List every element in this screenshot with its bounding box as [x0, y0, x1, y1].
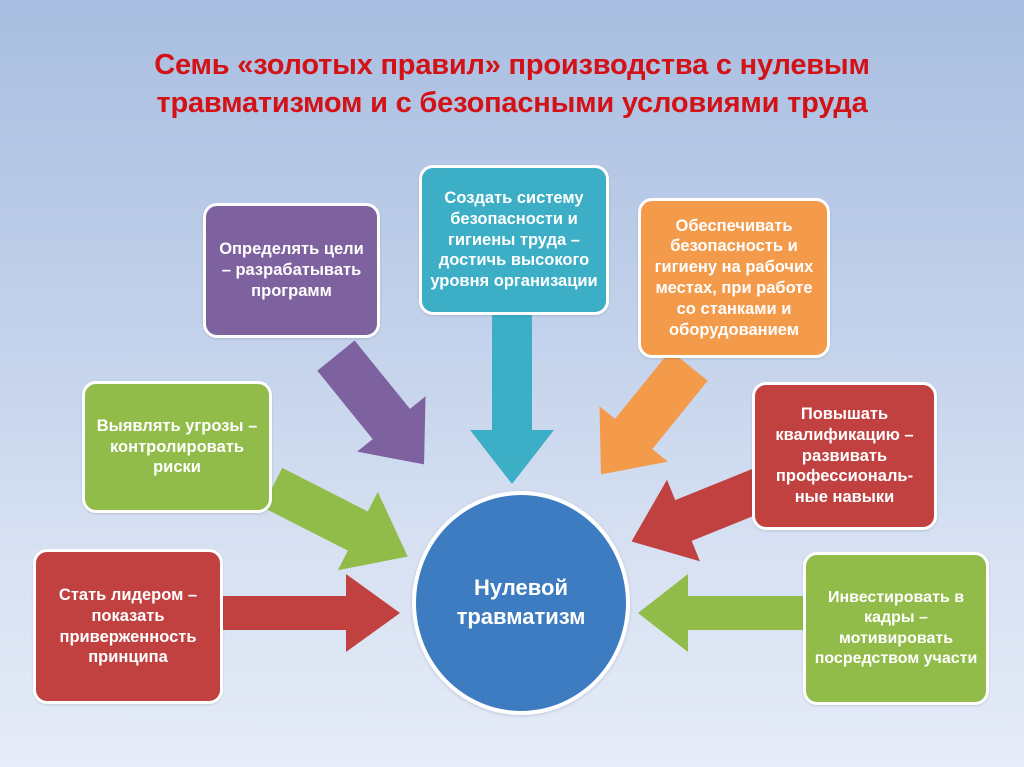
arrow-invest-to-center — [636, 570, 816, 656]
rule-box-invest[interactable]: Инвестировать в кадры – мотивировать пос… — [803, 552, 989, 705]
rule-box-invest-label: Инвестировать в кадры – мотивировать пос… — [814, 588, 978, 669]
center-node-zero-injury[interactable]: Нулевой травматизм — [412, 491, 630, 715]
rule-box-skills[interactable]: Повышать квалификацию – развивать профес… — [752, 382, 937, 530]
center-node-label-line-2: травматизм — [457, 603, 586, 632]
center-node-label-line-1: Нулевой — [457, 574, 586, 603]
rule-box-leader-label: Стать лидером – показать приверженность … — [44, 585, 212, 668]
rule-box-leader[interactable]: Стать лидером – показать приверженность … — [33, 549, 223, 704]
rule-box-system-label: Создать систему безопасности и гигиены т… — [430, 188, 598, 292]
arrow-leader-to-center — [218, 570, 404, 656]
rule-box-workplace[interactable]: Обеспечивать безопасность и гигиену на р… — [638, 198, 830, 358]
rule-box-system[interactable]: Создать систему безопасности и гигиены т… — [419, 165, 609, 315]
rule-box-threats-label: Выявлять угрозы – контролировать риски — [93, 416, 261, 478]
slide-canvas: Семь «золотых правил» производства с нул… — [0, 0, 1024, 767]
page-title-line-2: травматизмом и с безопасными условиями т… — [56, 84, 968, 122]
page-title: Семь «золотых правил» производства с нул… — [56, 46, 968, 123]
page-title-line-1: Семь «золотых правил» производства с нул… — [56, 46, 968, 84]
arrow-system-to-center — [462, 312, 562, 492]
rule-box-threats[interactable]: Выявлять угрозы – контролировать риски — [82, 381, 272, 513]
rule-box-workplace-label: Обеспечивать безопасность и гигиену на р… — [649, 216, 819, 341]
rule-box-goals[interactable]: Определять цели – разрабатывать программ — [203, 203, 380, 338]
rule-box-skills-label: Повышать квалификацию – развивать профес… — [763, 404, 926, 508]
rule-box-goals-label: Определять цели – разрабатывать программ — [214, 239, 369, 301]
